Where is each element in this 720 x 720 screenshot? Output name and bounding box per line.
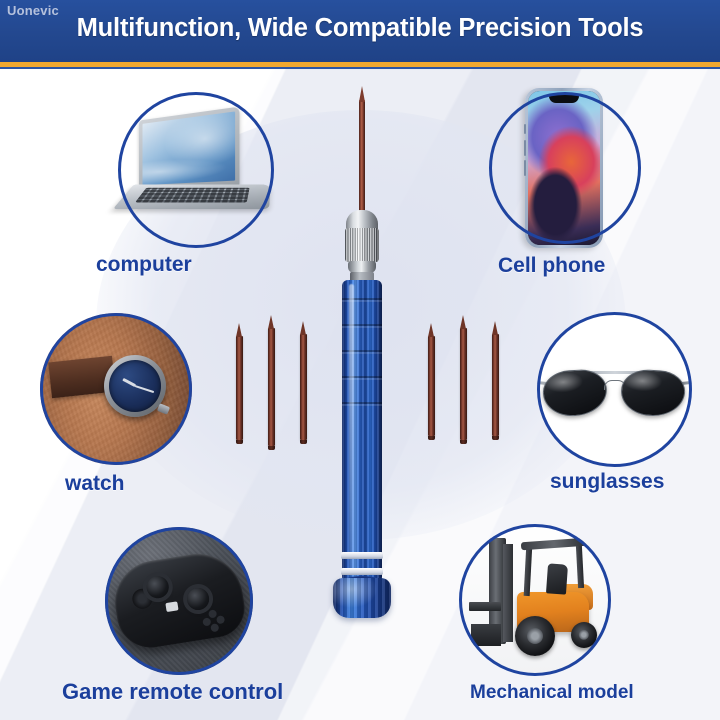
driver-bit xyxy=(428,336,435,436)
forklift-icon xyxy=(459,524,611,676)
use-case-computer xyxy=(118,92,274,248)
use-case-phone xyxy=(489,92,641,244)
use-case-watch xyxy=(40,313,192,465)
wristwatch-icon xyxy=(40,313,192,465)
bit-group-right xyxy=(424,322,506,440)
label-watch: watch xyxy=(65,472,125,496)
driver-bit xyxy=(300,334,307,440)
gamepad-icon xyxy=(105,527,253,675)
use-case-forklift xyxy=(459,524,611,676)
label-controller: Game remote control xyxy=(62,679,283,705)
label-computer: computer xyxy=(96,253,192,277)
handle-ring-lower xyxy=(341,568,383,575)
smartphone-icon xyxy=(489,92,641,244)
label-sunglasses: sunglasses xyxy=(550,470,664,494)
driver-bit xyxy=(460,328,467,440)
label-forklift: Mechanical model xyxy=(470,682,634,704)
rotating-end-cap xyxy=(333,578,391,618)
handle-ring-upper xyxy=(341,552,383,559)
knurled-chuck xyxy=(345,228,379,262)
handle-body xyxy=(342,280,382,580)
use-case-sunglasses xyxy=(537,312,692,467)
page-title: Multifunction, Wide Compatible Precision… xyxy=(0,14,720,43)
driver-bit xyxy=(236,336,243,440)
installed-bit xyxy=(359,100,365,218)
driver-bit xyxy=(268,328,275,446)
bit-group-left xyxy=(232,322,314,448)
use-case-controller xyxy=(105,527,253,675)
header-accent-rule xyxy=(0,62,720,67)
precision-screwdriver xyxy=(330,100,394,540)
label-phone: Cell phone xyxy=(498,254,605,278)
product-infographic: Uonevic Multifunction, Wide Compatible P… xyxy=(0,0,720,720)
laptop-icon xyxy=(118,92,274,248)
driver-bit xyxy=(492,334,499,436)
sunglasses-icon xyxy=(537,312,692,467)
